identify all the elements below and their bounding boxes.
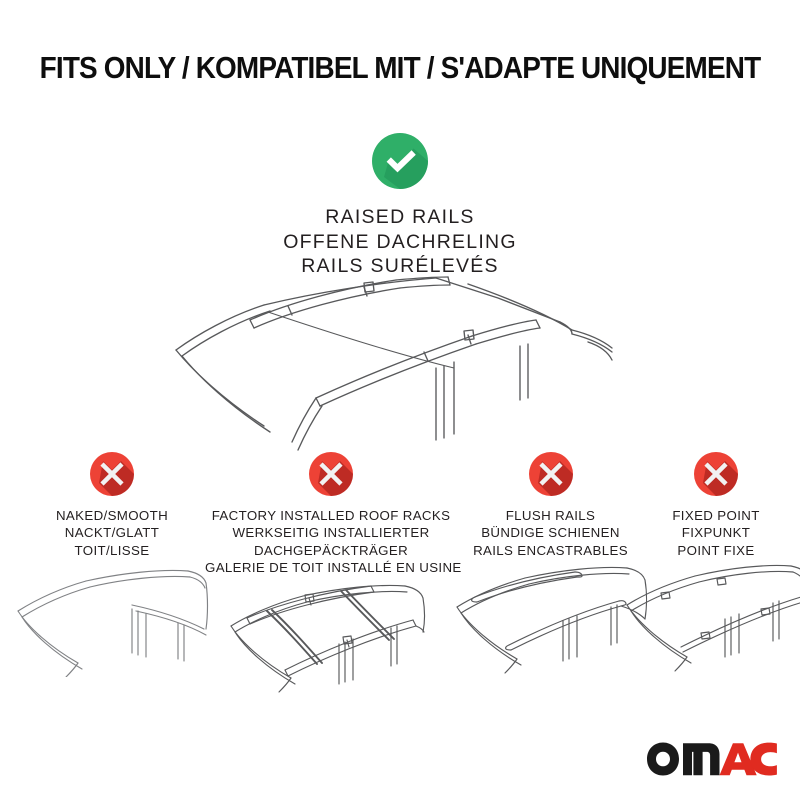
logo-ac-red [720,743,777,776]
check-circle-icon [372,133,428,189]
logo-om-dark [647,743,720,776]
car-roof-with-raised-rails-illustration [168,272,638,457]
incompatible-item-naked-smooth: NAKED/SMOOTH NACKT/GLATT TOIT/LISSE [0,452,224,559]
incompatible-label-en: NAKED/SMOOTH [0,507,224,524]
incompatible-labels: FLUSH RAILS BÜNDIGE SCHIENEN RAILS ENCAS… [443,507,658,559]
cross-circle-icon [529,452,573,496]
incompatible-item-factory-roof-rack: FACTORY INSTALLED ROOF RACKS WERKSEITIG … [205,452,457,577]
car-roof-fixed-point-illustration [621,557,800,677]
incompatible-label-en: FACTORY INSTALLED ROOF RACKS [205,507,457,524]
incompatible-section: NAKED/SMOOTH NACKT/GLATT TOIT/LISSE [0,452,800,692]
cross-circle-icon [90,452,134,496]
car-roof-factory-roof-rack-illustration [221,574,441,694]
fitment-compatibility-graphic: FITS ONLY / KOMPATIBEL MIT / S'ADAPTE UN… [0,0,800,800]
incompatible-label-de: NACKT/GLATT [0,524,224,541]
incompatible-item-fixed-point: FIXED POINT FIXPUNKT POINT FIXE [632,452,800,559]
page-title: FITS ONLY / KOMPATIBEL MIT / S'ADAPTE UN… [34,50,766,86]
incompatible-label-de-1: WERKSEITIG INSTALLIERTER [205,524,457,541]
compatible-label-en: RAISED RAILS [0,205,800,230]
incompatible-label-de-2: DACHGEPÄCKTRÄGER [205,542,457,559]
incompatible-labels: FACTORY INSTALLED ROOF RACKS WERKSEITIG … [205,507,457,577]
car-roof-naked-smooth-illustration [12,557,212,677]
compatible-label-de: OFFENE DACHRELING [0,230,800,255]
compatible-section: RAISED RAILS OFFENE DACHRELING RAILS SUR… [0,133,800,279]
header: FITS ONLY / KOMPATIBEL MIT / S'ADAPTE UN… [0,50,800,86]
incompatible-label-de: FIXPUNKT [632,524,800,541]
incompatible-item-flush-rails: FLUSH RAILS BÜNDIGE SCHIENEN RAILS ENCAS… [443,452,658,559]
incompatible-label-en: FIXED POINT [632,507,800,524]
omac-logo [646,740,778,778]
compatible-labels: RAISED RAILS OFFENE DACHRELING RAILS SUR… [0,205,800,279]
cross-circle-icon [694,452,738,496]
incompatible-labels: NAKED/SMOOTH NACKT/GLATT TOIT/LISSE [0,507,224,559]
incompatible-labels: FIXED POINT FIXPUNKT POINT FIXE [632,507,800,559]
cross-circle-icon [309,452,353,496]
incompatible-label-en: FLUSH RAILS [443,507,658,524]
incompatible-label-de: BÜNDIGE SCHIENEN [443,524,658,541]
